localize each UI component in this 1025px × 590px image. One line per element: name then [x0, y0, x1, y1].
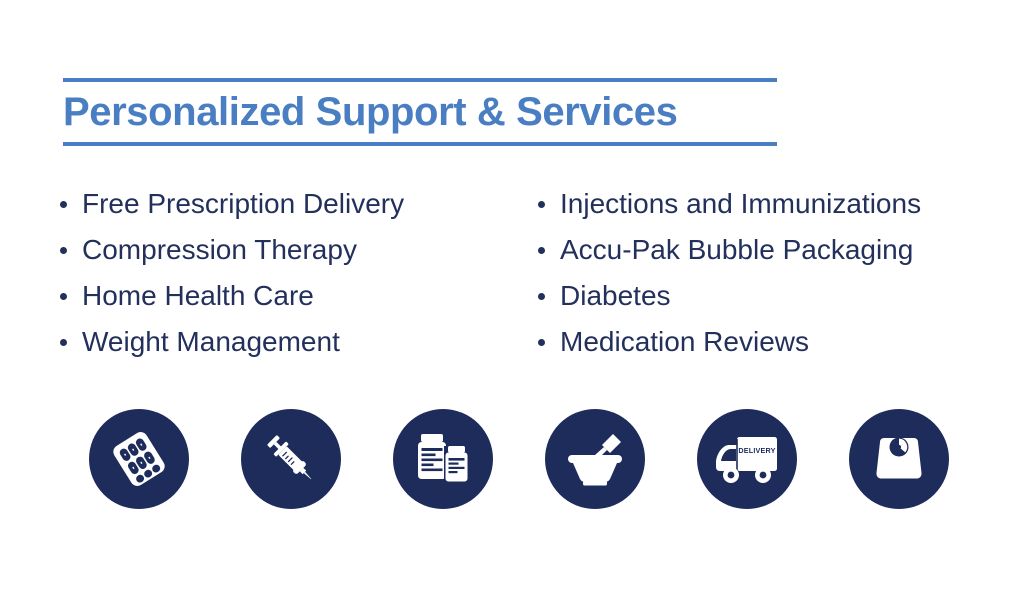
bullet-dot-icon	[538, 201, 545, 208]
icon-badge-syringe	[241, 409, 341, 509]
list-item: Injections and Immunizations	[536, 181, 1016, 227]
service-label: Accu-Pak Bubble Packaging	[560, 234, 913, 265]
header-block: Personalized Support & Services	[63, 78, 777, 146]
list-item: Weight Management	[58, 319, 518, 365]
service-label: Home Health Care	[82, 280, 314, 311]
icon-badge-mortar-pestle	[545, 409, 645, 509]
truck-delivery-label: DELIVERY	[738, 446, 775, 455]
service-label: Diabetes	[560, 280, 671, 311]
icon-badge-weight-scale	[849, 409, 949, 509]
bullet-dot-icon	[60, 247, 67, 254]
slide-canvas: Personalized Support & Services Free Pre…	[0, 0, 1025, 590]
pill-bottles-icon	[412, 428, 474, 490]
weight-scale-icon	[868, 428, 930, 490]
blister-pack-icon	[108, 428, 170, 490]
services-right-list: Injections and Immunizations Accu-Pak Bu…	[536, 181, 1016, 365]
title-bottom-rule	[63, 142, 777, 146]
services-right-column: Injections and Immunizations Accu-Pak Bu…	[536, 181, 1016, 365]
icon-badge-blister-pack	[89, 409, 189, 509]
bullet-dot-icon	[60, 293, 67, 300]
bullet-dot-icon	[538, 293, 545, 300]
bullet-dot-icon	[60, 201, 67, 208]
service-icon-row: DELIVERY	[0, 409, 1025, 511]
bullet-dot-icon	[538, 339, 545, 346]
services-left-column: Free Prescription Delivery Compression T…	[58, 181, 518, 365]
service-label: Injections and Immunizations	[560, 188, 921, 219]
list-item: Accu-Pak Bubble Packaging	[536, 227, 1016, 273]
list-item: Medication Reviews	[536, 319, 1016, 365]
services-left-list: Free Prescription Delivery Compression T…	[58, 181, 518, 365]
service-label: Compression Therapy	[82, 234, 357, 265]
services-columns: Free Prescription Delivery Compression T…	[0, 181, 1025, 371]
service-label: Free Prescription Delivery	[82, 188, 404, 219]
service-label: Weight Management	[82, 326, 340, 357]
list-item: Free Prescription Delivery	[58, 181, 518, 227]
page-title: Personalized Support & Services	[63, 82, 777, 142]
mortar-pestle-icon	[563, 427, 627, 491]
bullet-dot-icon	[60, 339, 67, 346]
delivery-truck-icon: DELIVERY	[713, 431, 781, 487]
icon-badge-delivery-truck: DELIVERY	[697, 409, 797, 509]
list-item: Compression Therapy	[58, 227, 518, 273]
list-item: Diabetes	[536, 273, 1016, 319]
list-item: Home Health Care	[58, 273, 518, 319]
bullet-dot-icon	[538, 247, 545, 254]
syringe-icon	[260, 428, 322, 490]
service-label: Medication Reviews	[560, 326, 809, 357]
icon-badge-pill-bottles	[393, 409, 493, 509]
